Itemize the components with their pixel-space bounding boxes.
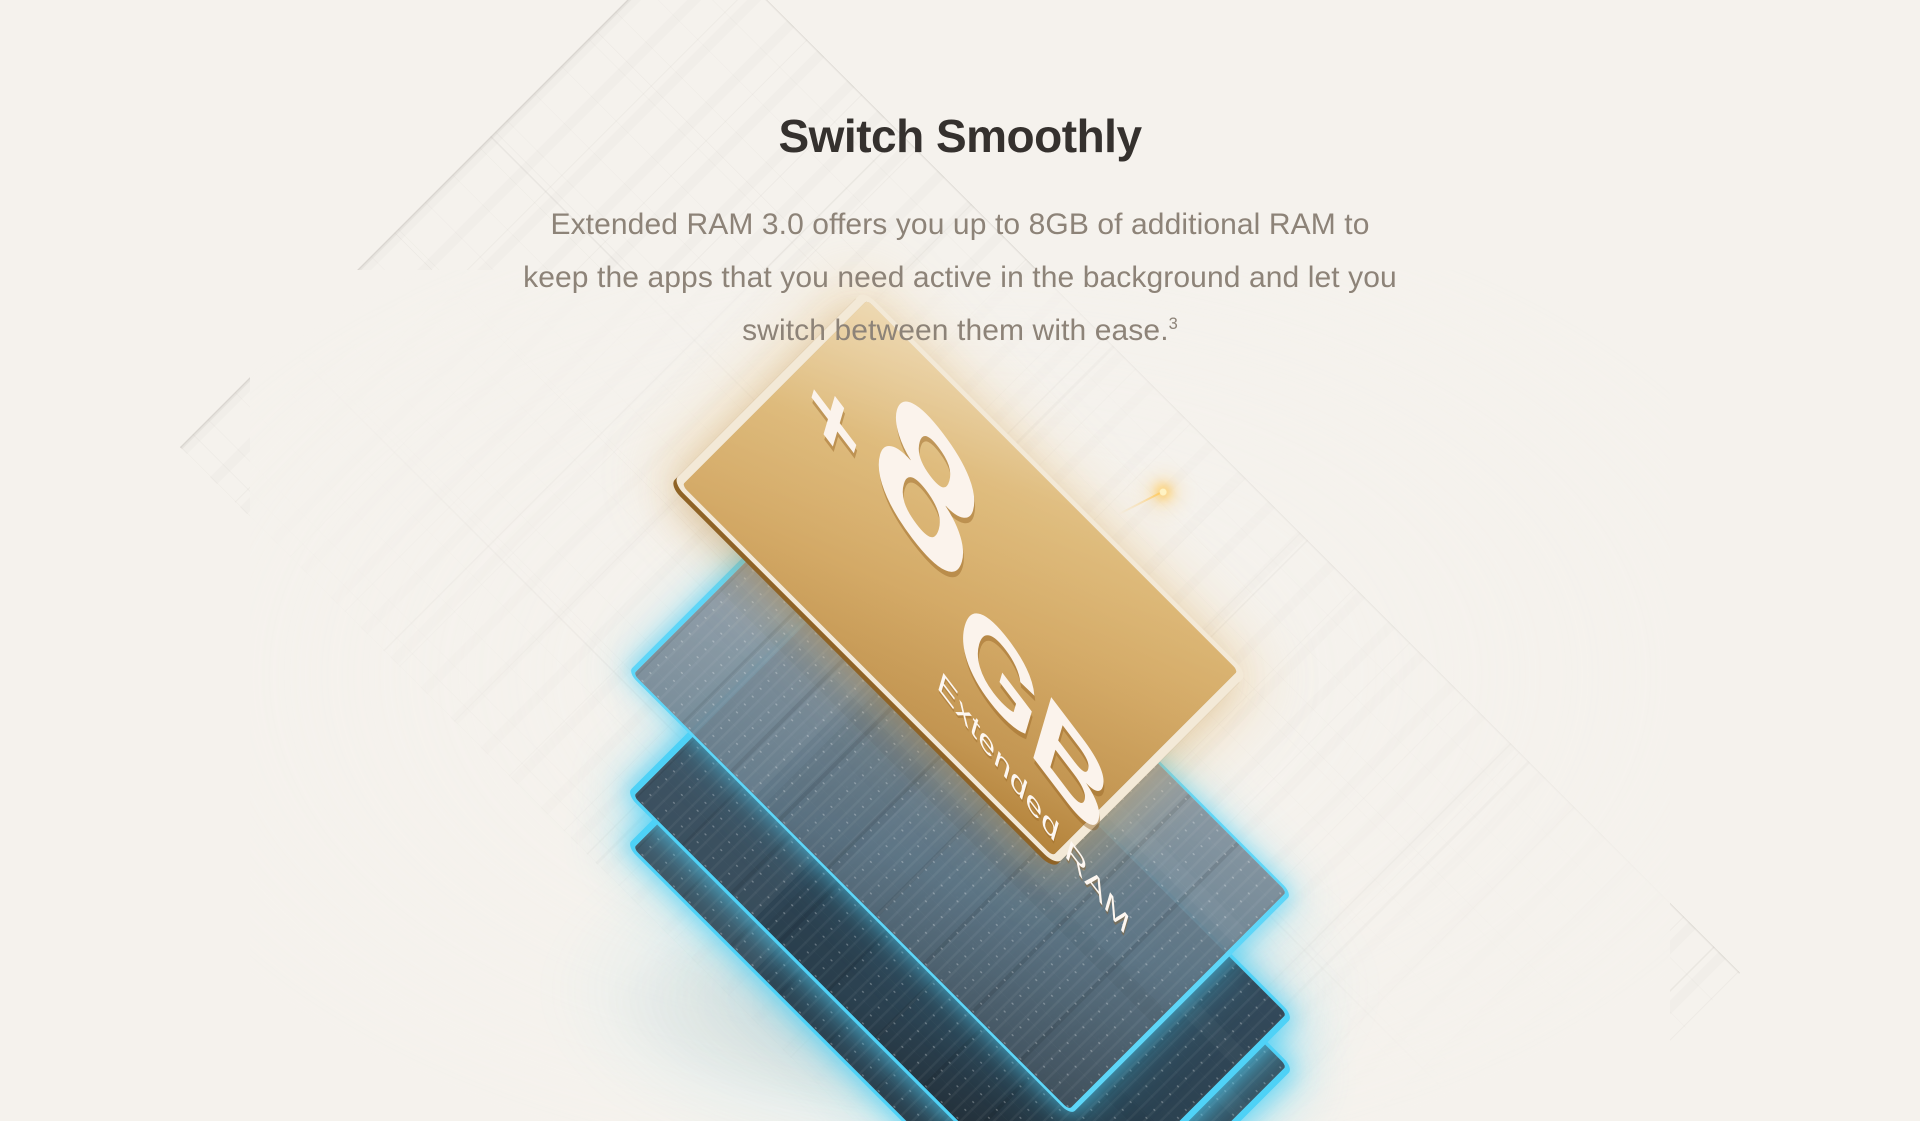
description-line-3: switch between them with ease. (742, 314, 1169, 347)
extended-ram-gold-chip: + 8 GB Extended RAM (760, 378, 1160, 778)
description-line-1: Extended RAM 3.0 offers you up to 8GB of… (550, 208, 1369, 241)
memory-layer-stack: RAM (610, 370, 1310, 1070)
copy-block: Switch Smoothly Extended RAM 3.0 offers … (0, 112, 1920, 357)
chip-plus-symbol: + (798, 351, 870, 492)
description-line-2: keep the apps that you need active in th… (523, 261, 1397, 294)
page-title: Switch Smoothly (0, 112, 1920, 162)
extended-ram-illustration: RAM (0, 330, 1920, 1121)
gold-chip-text-layer: + 8 GB Extended RAM (682, 300, 1238, 856)
extended-ram-feature-section: Switch Smoothly Extended RAM 3.0 offers … (0, 0, 1920, 1121)
section-description: Extended RAM 3.0 offers you up to 8GB of… (360, 198, 1560, 357)
footnote-marker: 3 (1169, 315, 1178, 333)
